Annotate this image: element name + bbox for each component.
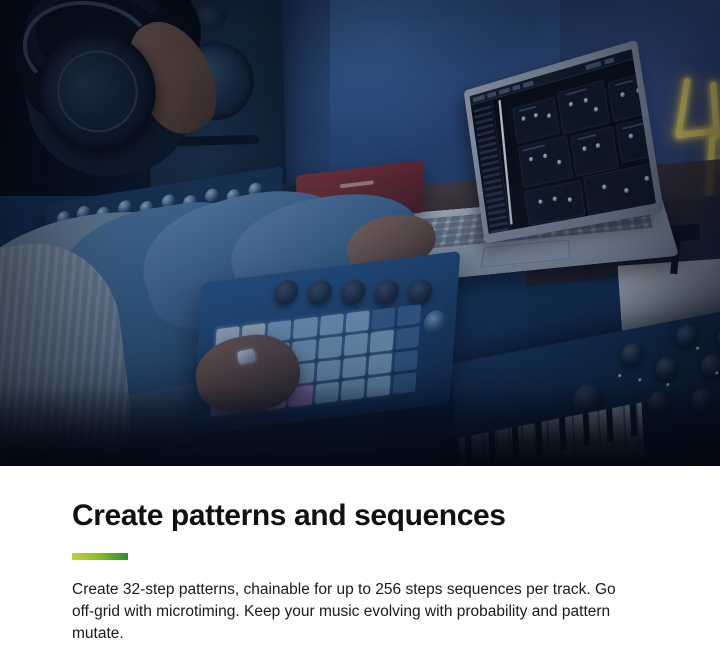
- hero-photo: [0, 0, 720, 466]
- desk-foreground-shadow: [0, 386, 720, 466]
- section-heading: Create patterns and sequences: [72, 499, 506, 533]
- interface-brand-mark: [340, 180, 374, 188]
- feature-panel: Create patterns and sequences Create 32-…: [0, 0, 720, 650]
- pad-cell[interactable]: [395, 327, 419, 349]
- section-body-text: Create 32-step patterns, chainable for u…: [72, 579, 632, 645]
- laptop-screen: [469, 49, 655, 234]
- pad-cell[interactable]: [368, 353, 392, 375]
- pad-cell[interactable]: [316, 359, 340, 381]
- pad-cell[interactable]: [318, 336, 342, 358]
- pad-cell[interactable]: [319, 314, 343, 336]
- pad-cell[interactable]: [371, 307, 395, 329]
- laptop-trackpad: [481, 240, 571, 268]
- laptop-lid: [464, 40, 664, 244]
- pad-cell[interactable]: [369, 330, 393, 352]
- accent-bar: [72, 553, 128, 560]
- speaker-bass-port: [173, 135, 259, 146]
- neon-tube-segment: [676, 78, 691, 136]
- pad-controller-encoder[interactable]: [423, 309, 446, 334]
- photo-stage: [0, 0, 720, 466]
- pad-cell[interactable]: [343, 333, 367, 355]
- pad-cell[interactable]: [342, 356, 366, 378]
- pad-cell[interactable]: [345, 310, 369, 332]
- pad-cell[interactable]: [394, 349, 418, 371]
- pad-cell[interactable]: [293, 317, 317, 339]
- pad-cell[interactable]: [397, 304, 421, 326]
- laptop: [408, 34, 658, 284]
- text-content-section: Create patterns and sequences Create 32-…: [0, 466, 720, 650]
